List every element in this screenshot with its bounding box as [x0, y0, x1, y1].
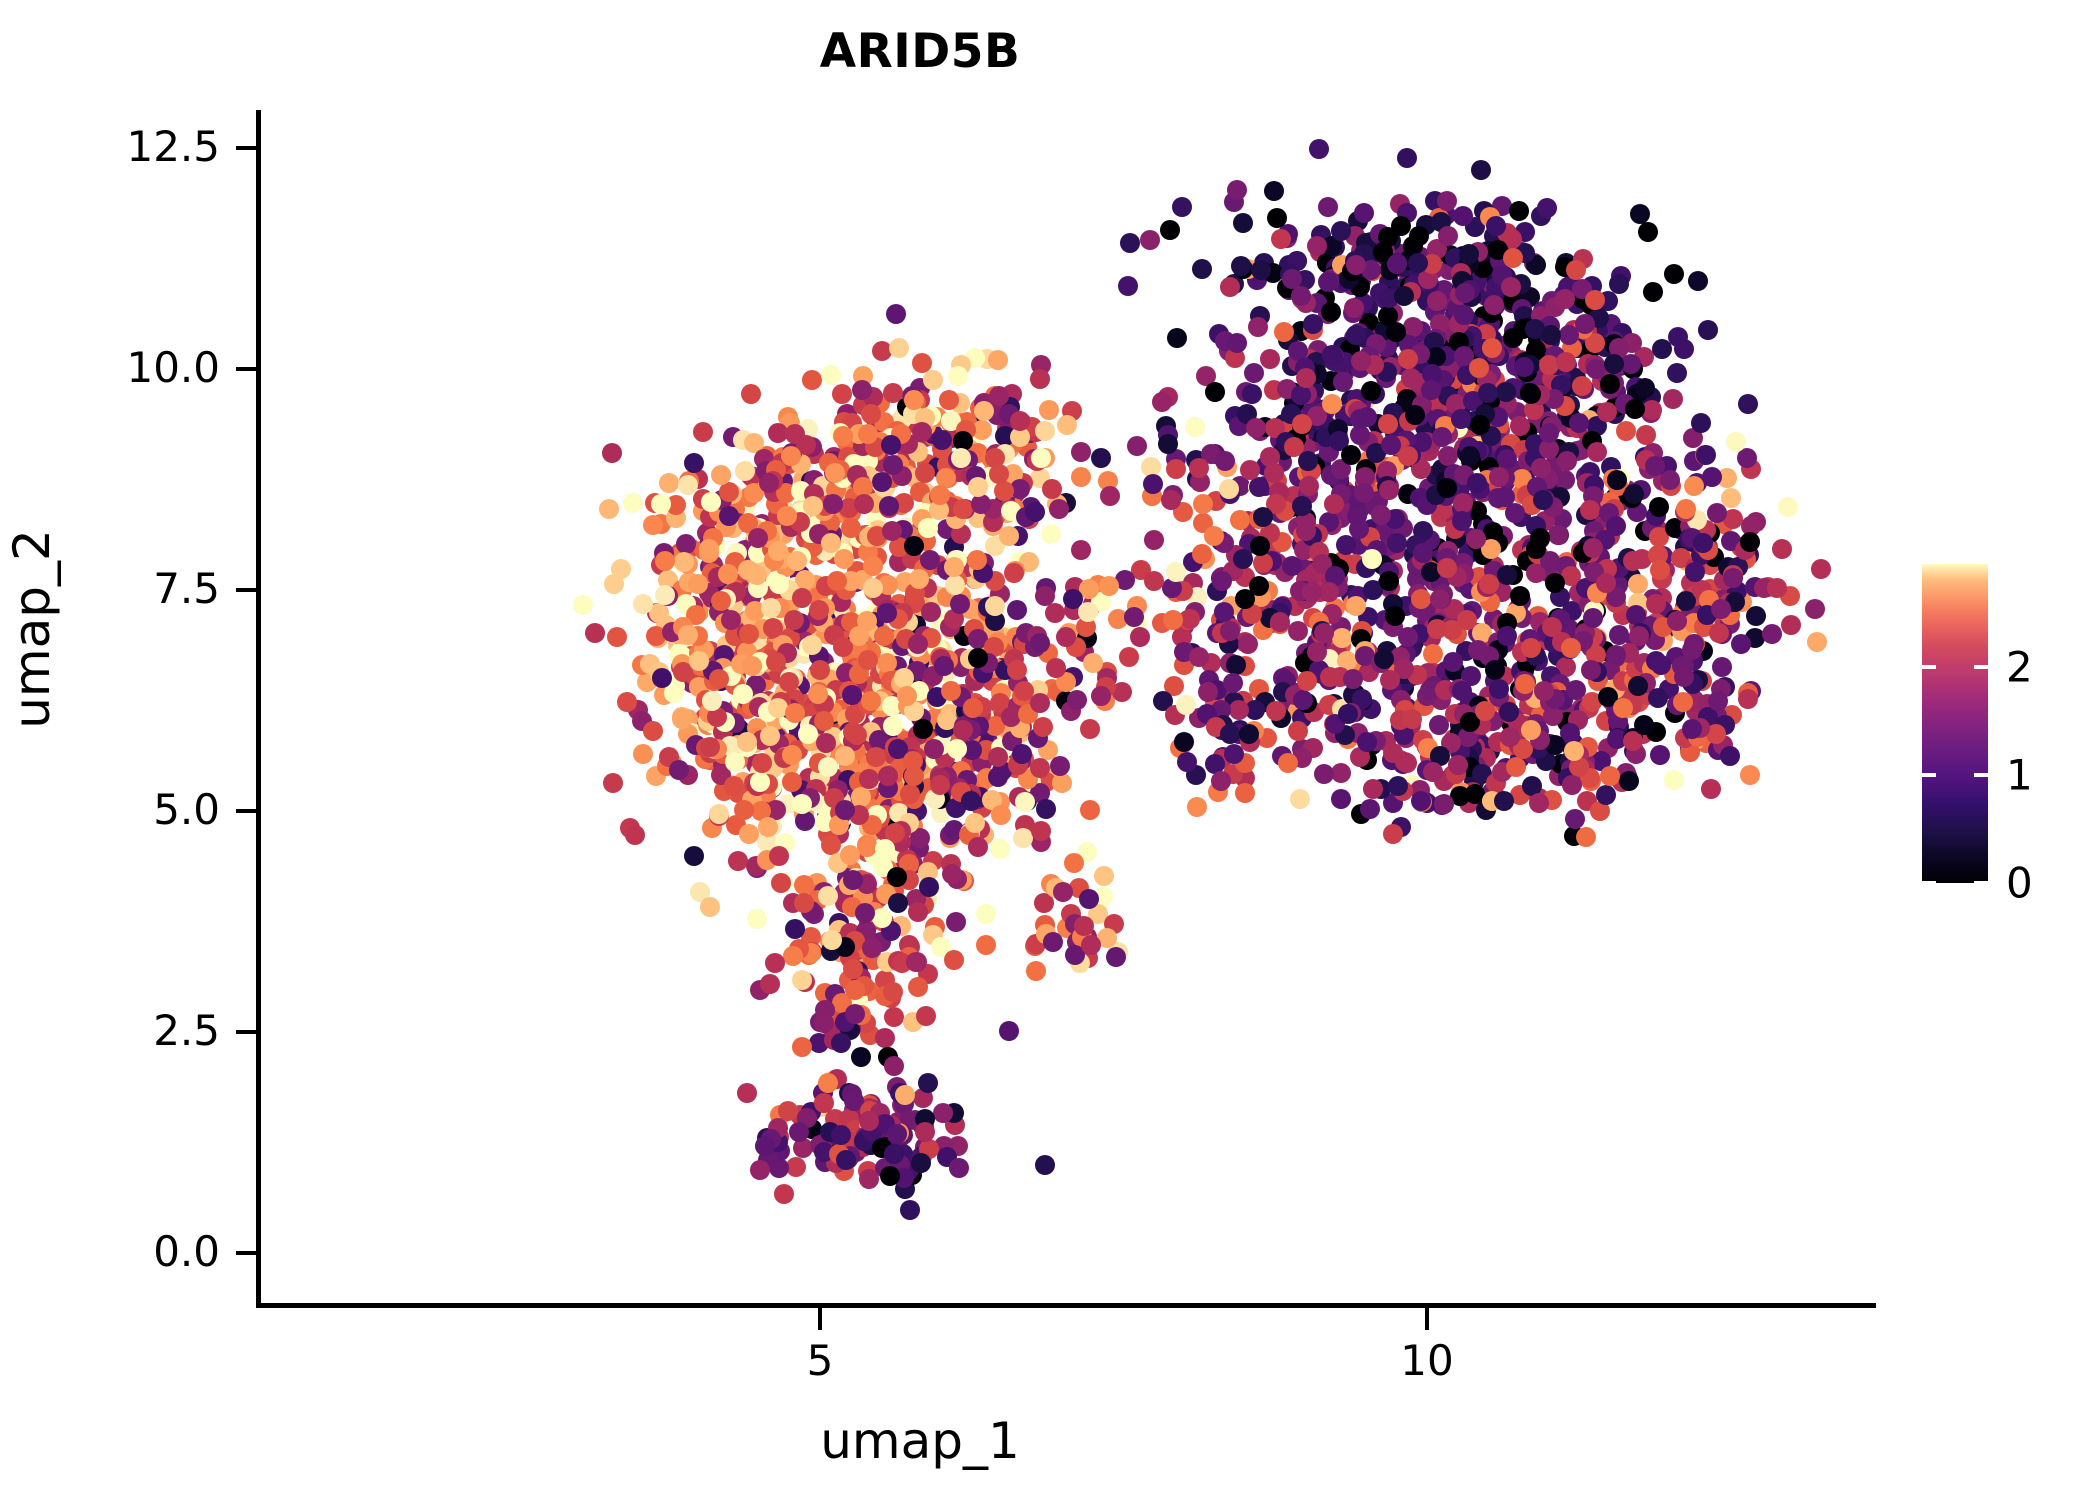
scatter-point — [1453, 573, 1473, 593]
scatter-point — [1562, 737, 1582, 757]
scatter-point — [1566, 680, 1586, 700]
scatter-point — [840, 948, 860, 968]
scatter-point — [1600, 766, 1620, 786]
scatter-point — [879, 799, 899, 819]
scatter-point — [741, 384, 761, 404]
scatter-point — [1341, 390, 1361, 410]
scatter-point — [1186, 450, 1206, 470]
scatter-point — [1348, 211, 1368, 231]
scatter-point — [849, 1120, 869, 1140]
scatter-point — [1350, 355, 1370, 375]
scatter-point — [1459, 793, 1479, 813]
scatter-point — [727, 583, 747, 603]
scatter-point — [1256, 456, 1276, 476]
scatter-point — [1275, 501, 1295, 521]
scatter-point — [884, 1144, 904, 1164]
scatter-point — [886, 670, 906, 690]
scatter-point — [874, 912, 894, 932]
scatter-point — [853, 570, 873, 590]
scatter-point — [679, 572, 699, 592]
scatter-point — [1271, 708, 1291, 728]
scatter-point — [1173, 581, 1193, 601]
scatter-point — [673, 632, 693, 652]
scatter-point — [1421, 628, 1441, 648]
scatter-point — [826, 1136, 846, 1156]
scatter-point — [678, 765, 698, 785]
scatter-point — [1205, 754, 1225, 774]
scatter-point — [766, 451, 786, 471]
scatter-point — [1534, 372, 1554, 392]
scatter-point — [1212, 567, 1232, 587]
scatter-point — [1497, 565, 1517, 585]
scatter-point — [1192, 544, 1212, 564]
scatter-point — [664, 683, 684, 703]
scatter-point — [861, 1135, 881, 1155]
scatter-point — [970, 398, 990, 418]
scatter-point — [872, 842, 892, 862]
scatter-point — [823, 727, 843, 747]
scatter-point — [1013, 473, 1033, 493]
scatter-point — [1339, 403, 1359, 423]
scatter-point — [772, 620, 792, 640]
scatter-point — [951, 687, 971, 707]
scatter-point — [870, 699, 890, 719]
scatter-point — [648, 628, 668, 648]
scatter-point — [838, 770, 858, 790]
scatter-point — [1375, 320, 1395, 340]
scatter-point — [1467, 441, 1487, 461]
scatter-point — [1605, 397, 1625, 417]
scatter-point — [1552, 632, 1572, 652]
scatter-point — [821, 533, 841, 553]
scatter-point — [1266, 494, 1286, 514]
scatter-point — [1421, 434, 1441, 454]
scatter-point — [1534, 681, 1554, 701]
scatter-point — [1557, 355, 1577, 375]
scatter-point — [1712, 624, 1732, 644]
scatter-point — [1585, 554, 1605, 574]
scatter-point — [1495, 633, 1515, 653]
scatter-point — [1541, 666, 1561, 686]
scatter-point — [793, 701, 813, 721]
scatter-point — [672, 709, 692, 729]
scatter-point — [1473, 482, 1493, 502]
scatter-point — [1606, 645, 1626, 665]
scatter-point — [1012, 413, 1032, 433]
scatter-point — [801, 523, 821, 543]
scatter-point — [1359, 346, 1379, 366]
scatter-point — [1606, 701, 1626, 721]
scatter-point — [903, 816, 923, 836]
scatter-point — [1424, 259, 1444, 279]
scatter-point — [1001, 707, 1021, 727]
scatter-point — [1531, 306, 1551, 326]
scatter-point — [1586, 359, 1606, 379]
scatter-point — [1447, 493, 1467, 513]
scatter-point — [824, 451, 844, 471]
scatter-point — [1321, 465, 1341, 485]
scatter-point — [1035, 421, 1055, 441]
scatter-point — [1326, 258, 1346, 278]
scatter-point — [1451, 284, 1471, 304]
scatter-point — [1331, 221, 1351, 241]
scatter-point — [815, 796, 835, 816]
scatter-point — [1376, 467, 1396, 487]
scatter-point — [911, 634, 931, 654]
scatter-point — [1017, 437, 1037, 457]
scatter-point — [859, 1111, 879, 1131]
scatter-point — [990, 731, 1010, 751]
scatter-point — [1519, 535, 1539, 555]
scatter-point — [747, 728, 767, 748]
scatter-point — [814, 588, 834, 608]
scatter-point — [755, 693, 775, 713]
scatter-point — [1156, 416, 1176, 436]
scatter-point — [1510, 708, 1530, 728]
scatter-point — [1721, 531, 1741, 551]
scatter-point — [921, 406, 941, 426]
scatter-point — [1493, 247, 1513, 267]
scatter-point — [1378, 543, 1398, 563]
scatter-point — [1314, 764, 1334, 784]
scatter-point — [1675, 537, 1695, 557]
scatter-point — [1718, 600, 1738, 620]
scatter-point — [1297, 671, 1317, 691]
scatter-point — [777, 643, 797, 663]
scatter-point — [934, 725, 954, 745]
scatter-point — [1262, 600, 1282, 620]
scatter-point — [1482, 264, 1502, 284]
scatter-point — [1609, 625, 1629, 645]
scatter-point — [1278, 753, 1298, 773]
scatter-point — [649, 662, 669, 682]
scatter-point — [984, 461, 1004, 481]
scatter-point — [1634, 715, 1654, 735]
scatter-point — [857, 425, 877, 445]
scatter-point — [1511, 661, 1531, 681]
scatter-point — [951, 728, 971, 748]
scatter-point — [1466, 529, 1486, 549]
scatter-point — [1115, 570, 1135, 590]
scatter-point — [898, 434, 918, 454]
scatter-point — [872, 472, 892, 492]
scatter-point — [1074, 642, 1094, 662]
scatter-point — [1474, 306, 1494, 326]
scatter-point — [771, 692, 791, 712]
scatter-point — [784, 689, 804, 709]
scatter-point — [1347, 506, 1367, 526]
scatter-point — [1723, 581, 1743, 601]
scatter-point — [1458, 311, 1478, 331]
scatter-point — [1378, 306, 1398, 326]
scatter-point — [1576, 619, 1596, 639]
scatter-point — [1379, 536, 1399, 556]
scatter-point — [1476, 748, 1496, 768]
scatter-point — [796, 529, 816, 549]
scatter-point — [874, 412, 894, 432]
scatter-point — [1338, 704, 1358, 724]
scatter-point — [723, 427, 743, 447]
scatter-point — [1517, 318, 1537, 338]
scatter-point — [1586, 629, 1606, 649]
scatter-point — [1233, 259, 1253, 279]
scatter-point — [860, 450, 880, 470]
scatter-point — [1459, 748, 1479, 768]
scatter-point — [1468, 242, 1488, 262]
scatter-point — [868, 528, 888, 548]
scatter-point — [1144, 530, 1164, 550]
scatter-point — [1448, 755, 1468, 775]
scatter-point — [1578, 590, 1598, 610]
scatter-point — [839, 681, 859, 701]
scatter-point — [1597, 559, 1617, 579]
x-tick-mark — [1425, 1308, 1429, 1330]
scatter-point — [1009, 787, 1029, 807]
scatter-point — [1030, 783, 1050, 803]
scatter-point — [794, 631, 814, 651]
scatter-point — [879, 664, 899, 684]
scatter-point — [820, 1122, 840, 1142]
scatter-point — [748, 652, 768, 672]
scatter-point — [809, 714, 829, 734]
scatter-point — [1453, 724, 1473, 744]
scatter-point — [1497, 394, 1517, 414]
scatter-point — [969, 716, 989, 736]
scatter-point — [1516, 672, 1536, 692]
scatter-point — [1443, 408, 1463, 428]
scatter-point — [1296, 512, 1316, 532]
scatter-point — [1406, 535, 1426, 555]
scatter-point — [857, 837, 877, 857]
scatter-point — [1427, 563, 1447, 583]
scatter-point — [878, 860, 898, 880]
scatter-point — [1493, 526, 1513, 546]
scatter-point — [761, 1129, 781, 1149]
scatter-point — [894, 493, 914, 513]
scatter-point — [923, 666, 943, 686]
scatter-point — [1474, 201, 1494, 221]
scatter-point — [780, 594, 800, 614]
scatter-point — [769, 1127, 789, 1147]
scatter-point — [1166, 449, 1186, 469]
scatter-point — [1294, 540, 1314, 560]
scatter-point — [860, 1101, 880, 1121]
scatter-point — [815, 1000, 835, 1020]
scatter-point — [1466, 756, 1486, 776]
scatter-point — [1012, 744, 1032, 764]
scatter-point — [1646, 651, 1666, 671]
scatter-point — [669, 644, 689, 664]
scatter-point — [1219, 634, 1239, 654]
scatter-point — [1520, 383, 1540, 403]
scatter-point — [757, 832, 777, 852]
scatter-point — [1221, 618, 1241, 638]
scatter-point — [918, 774, 938, 794]
scatter-point — [1302, 575, 1322, 595]
scatter-point — [1599, 503, 1619, 523]
scatter-point — [751, 801, 771, 821]
scatter-point — [1447, 567, 1467, 587]
scatter-point — [908, 902, 928, 922]
scatter-point — [931, 803, 951, 823]
scatter-point — [1020, 423, 1040, 443]
scatter-point — [965, 813, 985, 833]
scatter-point — [1276, 671, 1296, 691]
scatter-point — [874, 793, 894, 813]
scatter-point — [713, 754, 733, 774]
scatter-point — [749, 579, 769, 599]
scatter-point — [1417, 611, 1437, 631]
scatter-point — [1512, 608, 1532, 628]
scatter-point — [890, 1083, 910, 1103]
scatter-point — [987, 405, 1007, 425]
scatter-point — [923, 640, 943, 660]
scatter-point — [1714, 616, 1734, 636]
scatter-point — [1005, 725, 1025, 745]
scatter-point — [744, 550, 764, 570]
scatter-point — [1418, 663, 1438, 683]
scatter-point — [1211, 700, 1231, 720]
scatter-point — [779, 695, 799, 715]
scatter-point — [937, 662, 957, 682]
scatter-point — [1277, 379, 1297, 399]
scatter-point — [1471, 582, 1491, 602]
scatter-point — [1630, 656, 1650, 676]
scatter-point — [1618, 548, 1638, 568]
scatter-point — [1310, 242, 1330, 262]
scatter-point — [1447, 298, 1467, 318]
scatter-point — [922, 495, 942, 515]
scatter-point — [693, 489, 713, 509]
scatter-point — [1467, 330, 1487, 350]
scatter-point — [1349, 519, 1369, 539]
scatter-point — [1514, 306, 1534, 326]
scatter-point — [1498, 701, 1518, 721]
scatter-point — [892, 466, 912, 486]
scatter-point — [896, 572, 916, 592]
scatter-point — [777, 605, 797, 625]
scatter-point — [1413, 730, 1433, 750]
scatter-point — [1337, 651, 1357, 671]
scatter-point — [1580, 462, 1600, 482]
scatter-point — [701, 492, 721, 512]
scatter-point — [1530, 612, 1550, 632]
scatter-point — [1680, 739, 1700, 759]
scatter-point — [1600, 492, 1620, 512]
scatter-point — [1079, 889, 1099, 909]
scatter-point — [1739, 545, 1759, 565]
scatter-point — [1606, 593, 1626, 613]
scatter-point — [860, 1109, 880, 1129]
scatter-point — [845, 658, 865, 678]
scatter-point — [1293, 525, 1313, 545]
scatter-point — [1423, 762, 1443, 782]
scatter-point — [925, 789, 945, 809]
scatter-point — [737, 737, 757, 757]
scatter-point — [1357, 750, 1377, 770]
scatter-point — [1531, 458, 1551, 478]
scatter-point — [1446, 508, 1466, 528]
scatter-point — [1628, 574, 1648, 594]
scatter-point — [1362, 735, 1382, 755]
scatter-point — [918, 964, 938, 984]
scatter-point — [1006, 758, 1026, 778]
scatter-point — [1348, 723, 1368, 743]
scatter-point — [1575, 314, 1595, 334]
scatter-point — [1254, 253, 1274, 273]
scatter-point — [928, 555, 948, 575]
scatter-point — [747, 565, 767, 585]
scatter-point — [986, 444, 1006, 464]
scatter-point — [1388, 509, 1408, 529]
scatter-point — [953, 684, 973, 704]
scatter-point — [827, 571, 847, 591]
scatter-point — [1410, 270, 1430, 290]
scatter-point — [822, 676, 842, 696]
scatter-point — [956, 701, 976, 721]
scatter-point — [700, 641, 720, 661]
scatter-point — [1351, 629, 1371, 649]
scatter-point — [1309, 660, 1329, 680]
scatter-point — [682, 673, 702, 693]
scatter-point — [1583, 486, 1603, 506]
scatter-point — [1535, 490, 1555, 510]
scatter-point — [1112, 682, 1132, 702]
scatter-point — [1035, 586, 1055, 606]
scatter-point — [1345, 226, 1365, 246]
scatter-point — [1512, 642, 1532, 662]
scatter-point — [1587, 583, 1607, 603]
scatter-point — [1373, 555, 1393, 575]
scatter-point — [672, 654, 692, 674]
scatter-point — [741, 466, 761, 486]
scatter-point — [842, 413, 862, 433]
scatter-point — [1548, 646, 1568, 666]
scatter-point — [1351, 241, 1371, 261]
scatter-point — [1473, 545, 1493, 565]
scatter-point — [1518, 451, 1538, 471]
scatter-point — [922, 492, 942, 512]
scatter-point — [951, 524, 971, 544]
scatter-point — [859, 1098, 879, 1118]
scatter-point — [1465, 784, 1485, 804]
scatter-point — [1390, 257, 1410, 277]
scatter-point — [1561, 275, 1581, 295]
scatter-point — [1172, 627, 1192, 647]
scatter-point — [1006, 754, 1026, 774]
scatter-point — [1691, 413, 1711, 433]
scatter-point — [1512, 469, 1532, 489]
scatter-point — [1224, 744, 1244, 764]
scatter-point — [715, 613, 735, 633]
scatter-point — [855, 525, 875, 545]
scatter-point — [1359, 313, 1379, 333]
scatter-point — [1098, 471, 1118, 491]
scatter-point — [861, 642, 881, 662]
scatter-point — [849, 626, 869, 646]
scatter-point — [1560, 395, 1580, 415]
scatter-point — [916, 716, 936, 736]
scatter-point — [847, 686, 867, 706]
scatter-point — [956, 419, 976, 439]
scatter-point — [927, 638, 947, 658]
scatter-point — [904, 576, 924, 596]
scatter-point — [745, 601, 765, 621]
scatter-point — [1604, 499, 1624, 519]
scatter-point — [970, 787, 990, 807]
scatter-point — [959, 825, 979, 845]
scatter-point — [1467, 436, 1487, 456]
